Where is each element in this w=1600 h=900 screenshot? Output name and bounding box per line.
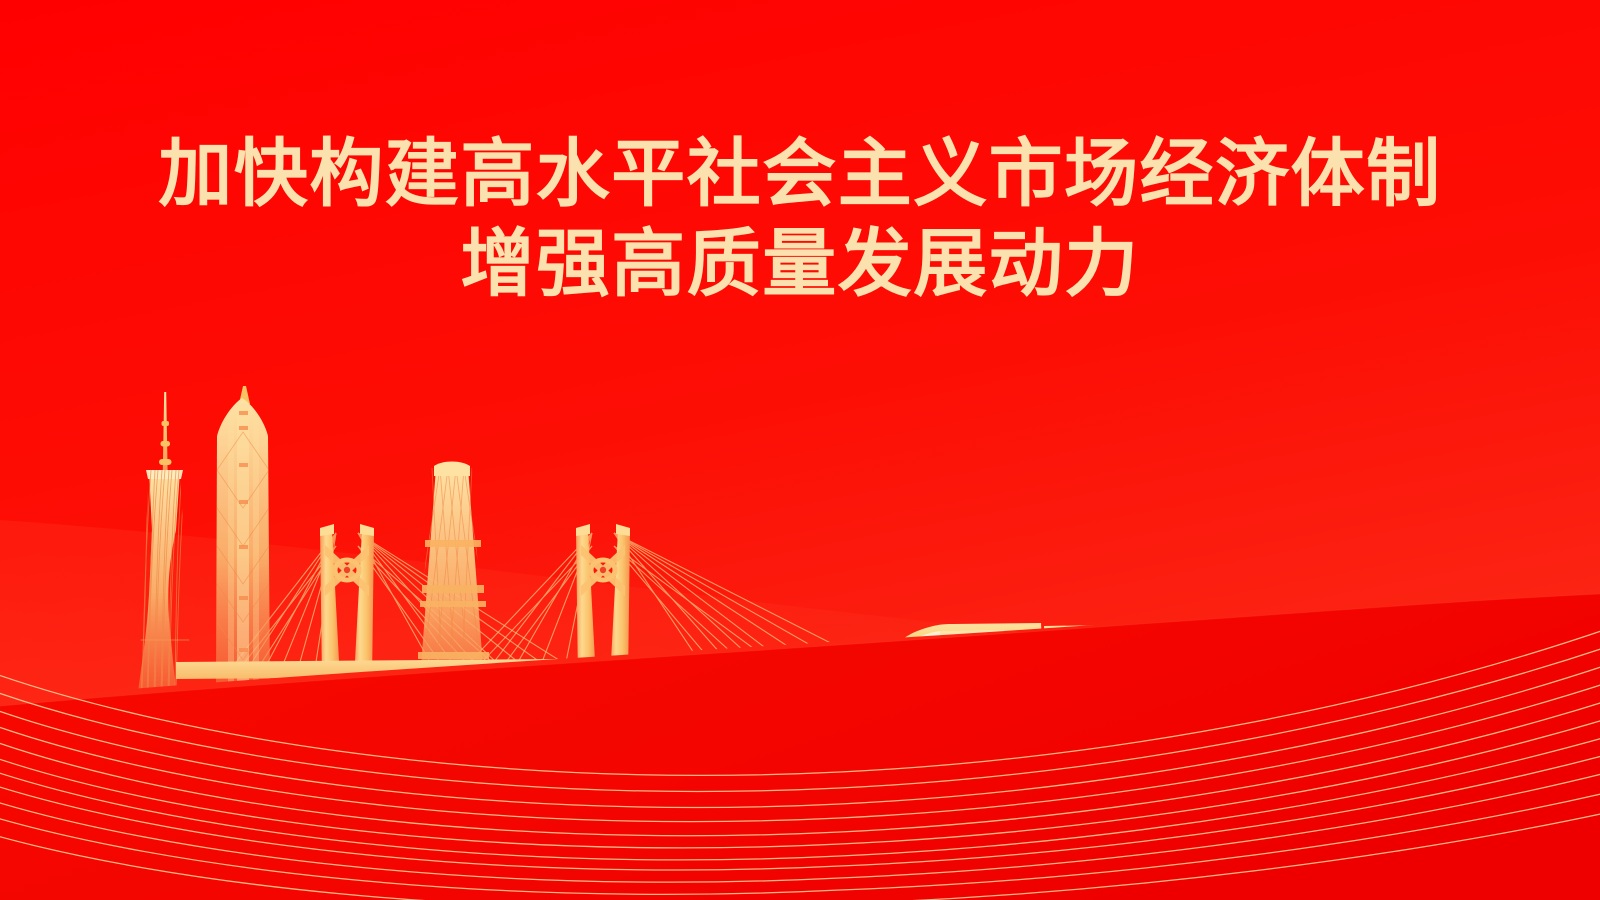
pointed-skyscraper bbox=[216, 386, 270, 684]
poster-illustration bbox=[0, 0, 1600, 900]
poster-canvas: 加快构建高水平社会主义市场经济体制 增强高质量发展动力 bbox=[0, 0, 1600, 900]
